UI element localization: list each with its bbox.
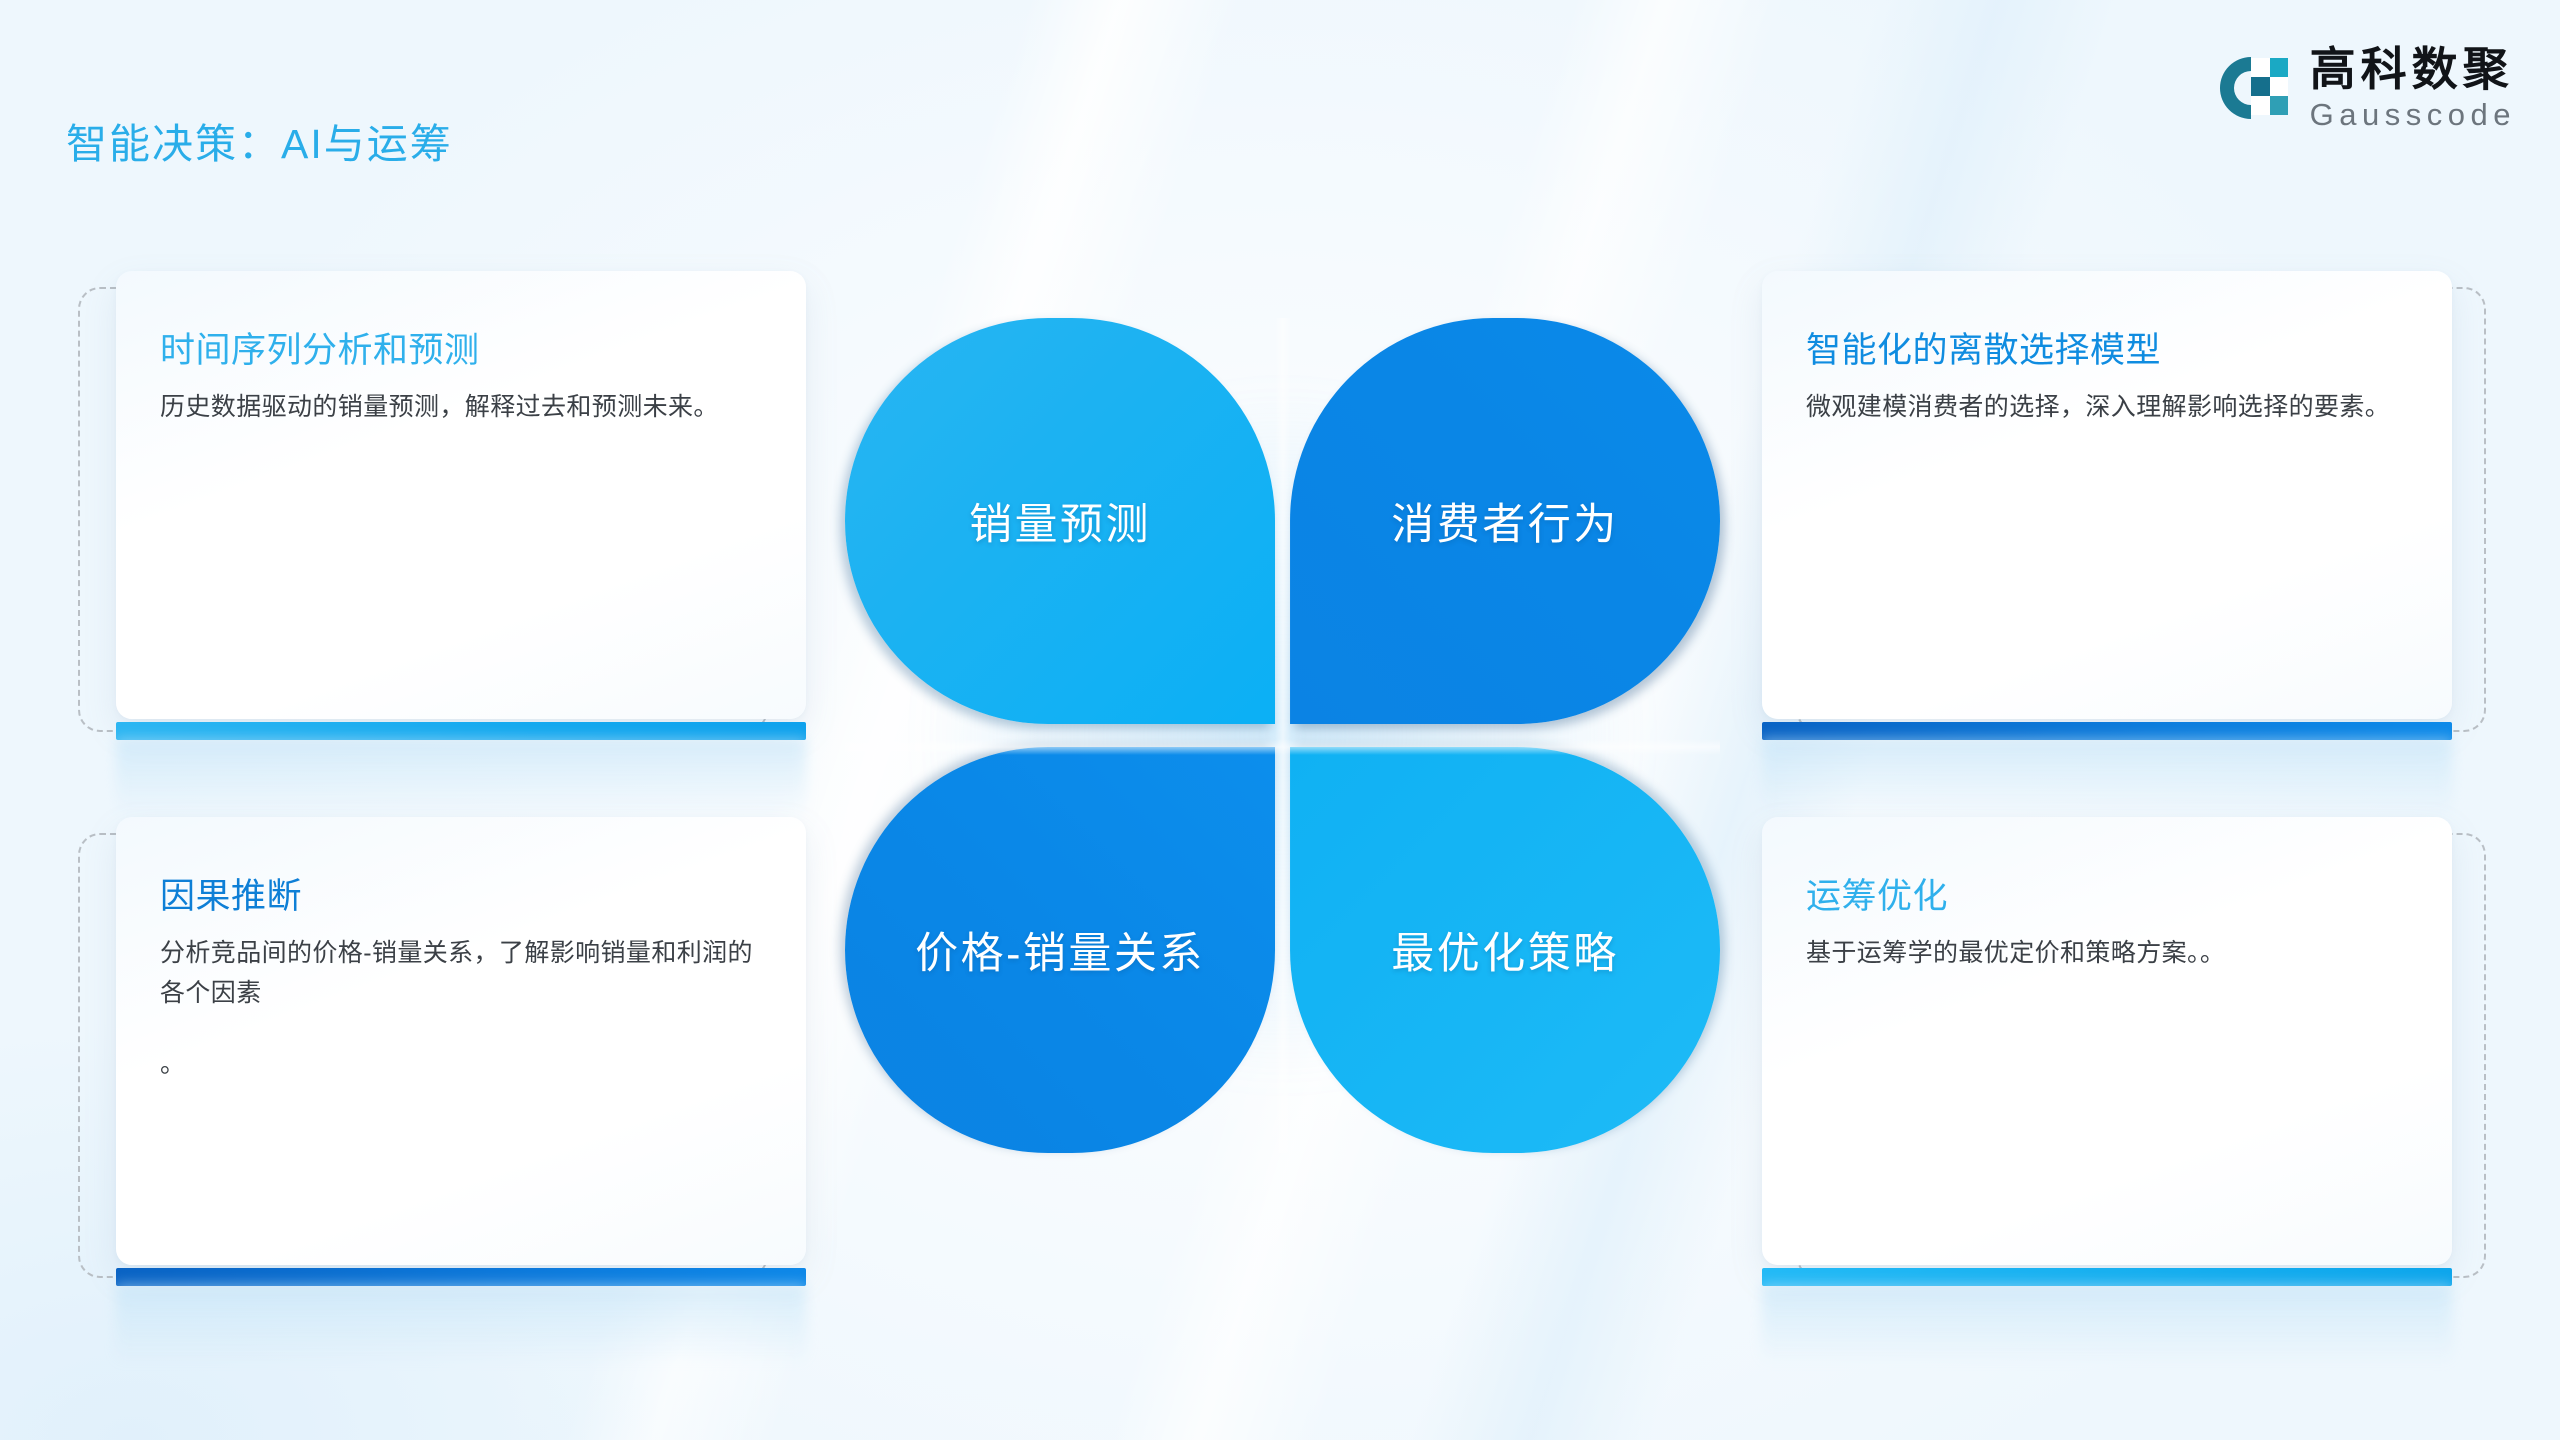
page-title: 智能决策：AI与运筹 [66, 110, 453, 170]
card-body: 基于运筹学的最优定价和策略方案。。 [1806, 933, 2408, 974]
logo-english-name: Gausscode [2310, 99, 2516, 130]
card-title: 智能化的离散选择模型 [1806, 329, 2408, 373]
card-title: 因果推断 [160, 875, 762, 919]
card-body: 历史数据驱动的销量预测，解释过去和预测未来。 [160, 387, 762, 428]
petal-label: 最优化策略 [1391, 919, 1619, 981]
clover-petal-sales-forecast[interactable]: 销量预测 [845, 318, 1275, 724]
brand-logo: 高科数聚 Gausscode [2214, 46, 2516, 130]
card-body: 微观建模消费者的选择，深入理解影响选择的要素。 [1806, 387, 2408, 428]
card-content: 运筹优化 基于运筹学的最优定价和策略方案。。 [1762, 817, 2452, 1265]
card-accent-glow [116, 738, 806, 818]
card-accent-glow [1762, 1284, 2452, 1364]
card-title: 运筹优化 [1806, 875, 2408, 919]
feature-card-causal-inference[interactable]: 因果推断 分析竞品间的价格-销量关系，了解影响销量和利润的各个因素 。 [78, 833, 768, 1278]
feature-card-time-series[interactable]: 时间序列分析和预测 历史数据驱动的销量预测，解释过去和预测未来。 [78, 287, 768, 732]
clover-seam-vertical [1275, 318, 1291, 1153]
card-content: 时间序列分析和预测 历史数据驱动的销量预测，解释过去和预测未来。 [116, 271, 806, 719]
card-body: 分析竞品间的价格-销量关系，了解影响销量和利润的各个因素 。 [160, 933, 762, 1085]
card-accent-glow [116, 1284, 806, 1364]
clover-petal-price-sales-relation[interactable]: 价格-销量关系 [845, 747, 1275, 1153]
petal-label: 销量预测 [969, 490, 1151, 552]
card-content: 智能化的离散选择模型 微观建模消费者的选择，深入理解影响选择的要素。 [1762, 271, 2452, 719]
logo-chinese-name: 高科数聚 [2310, 46, 2516, 92]
card-title: 时间序列分析和预测 [160, 329, 762, 373]
gausscode-logo-mark-icon [2214, 51, 2288, 125]
petal-label: 价格-销量关系 [915, 919, 1205, 981]
clover-seam-horizontal [845, 739, 1720, 755]
feature-card-optimization[interactable]: 运筹优化 基于运筹学的最优定价和策略方案。。 [1796, 833, 2486, 1278]
clover-diagram: 销量预测 消费者行为 价格-销量关系 最优化策略 [845, 318, 1720, 1153]
clover-petal-consumer-behavior[interactable]: 消费者行为 [1290, 318, 1720, 724]
feature-card-discrete-choice[interactable]: 智能化的离散选择模型 微观建模消费者的选择，深入理解影响选择的要素。 [1796, 287, 2486, 732]
card-content: 因果推断 分析竞品间的价格-销量关系，了解影响销量和利润的各个因素 。 [116, 817, 806, 1265]
card-body-tail: 。 [160, 1044, 762, 1085]
clover-petal-optimal-strategy[interactable]: 最优化策略 [1290, 747, 1720, 1153]
petal-label: 消费者行为 [1391, 490, 1619, 552]
card-accent-glow [1762, 738, 2452, 818]
